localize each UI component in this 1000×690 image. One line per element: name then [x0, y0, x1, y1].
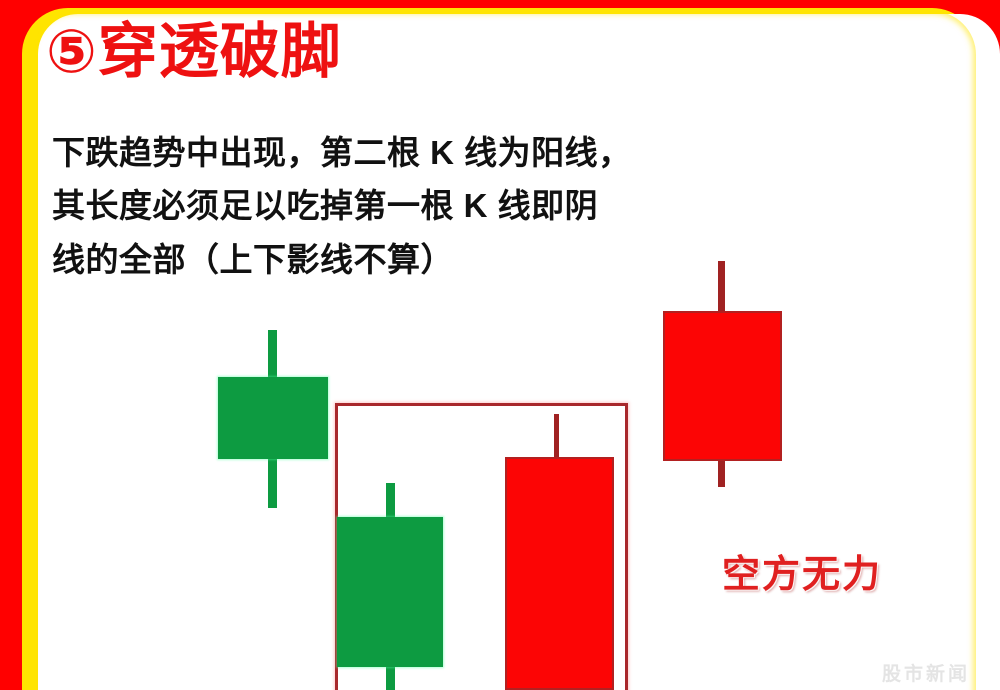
infographic-card: ⑤穿透破脚 下跌趋势中出现，第二根 K 线为阳线， 其长度必须足以吃掉第一根 K…	[0, 0, 1000, 690]
candle-1-body	[218, 377, 328, 459]
description-line-2: 其长度必须足以吃掉第一根 K 线即阴	[52, 179, 692, 232]
candle-2-body	[337, 517, 443, 667]
description-paragraph: 下跌趋势中出现，第二根 K 线为阳线， 其长度必须足以吃掉第一根 K 线即阴 线…	[52, 126, 692, 286]
candle-3-body	[505, 457, 614, 690]
annotation-label: 空方无力	[722, 543, 882, 598]
candle-4-body	[663, 311, 782, 461]
watermark: 股市新闻	[882, 659, 970, 686]
page-title: ⑤穿透破脚	[46, 22, 342, 82]
description-line-3: 线的全部（上下影线不算）	[52, 233, 692, 286]
candle-3-wick	[554, 414, 559, 460]
description-line-1: 下跌趋势中出现，第二根 K 线为阳线，	[52, 126, 692, 179]
card-content: ⑤穿透破脚 下跌趋势中出现，第二根 K 线为阳线， 其长度必须足以吃掉第一根 K…	[0, 0, 1000, 690]
